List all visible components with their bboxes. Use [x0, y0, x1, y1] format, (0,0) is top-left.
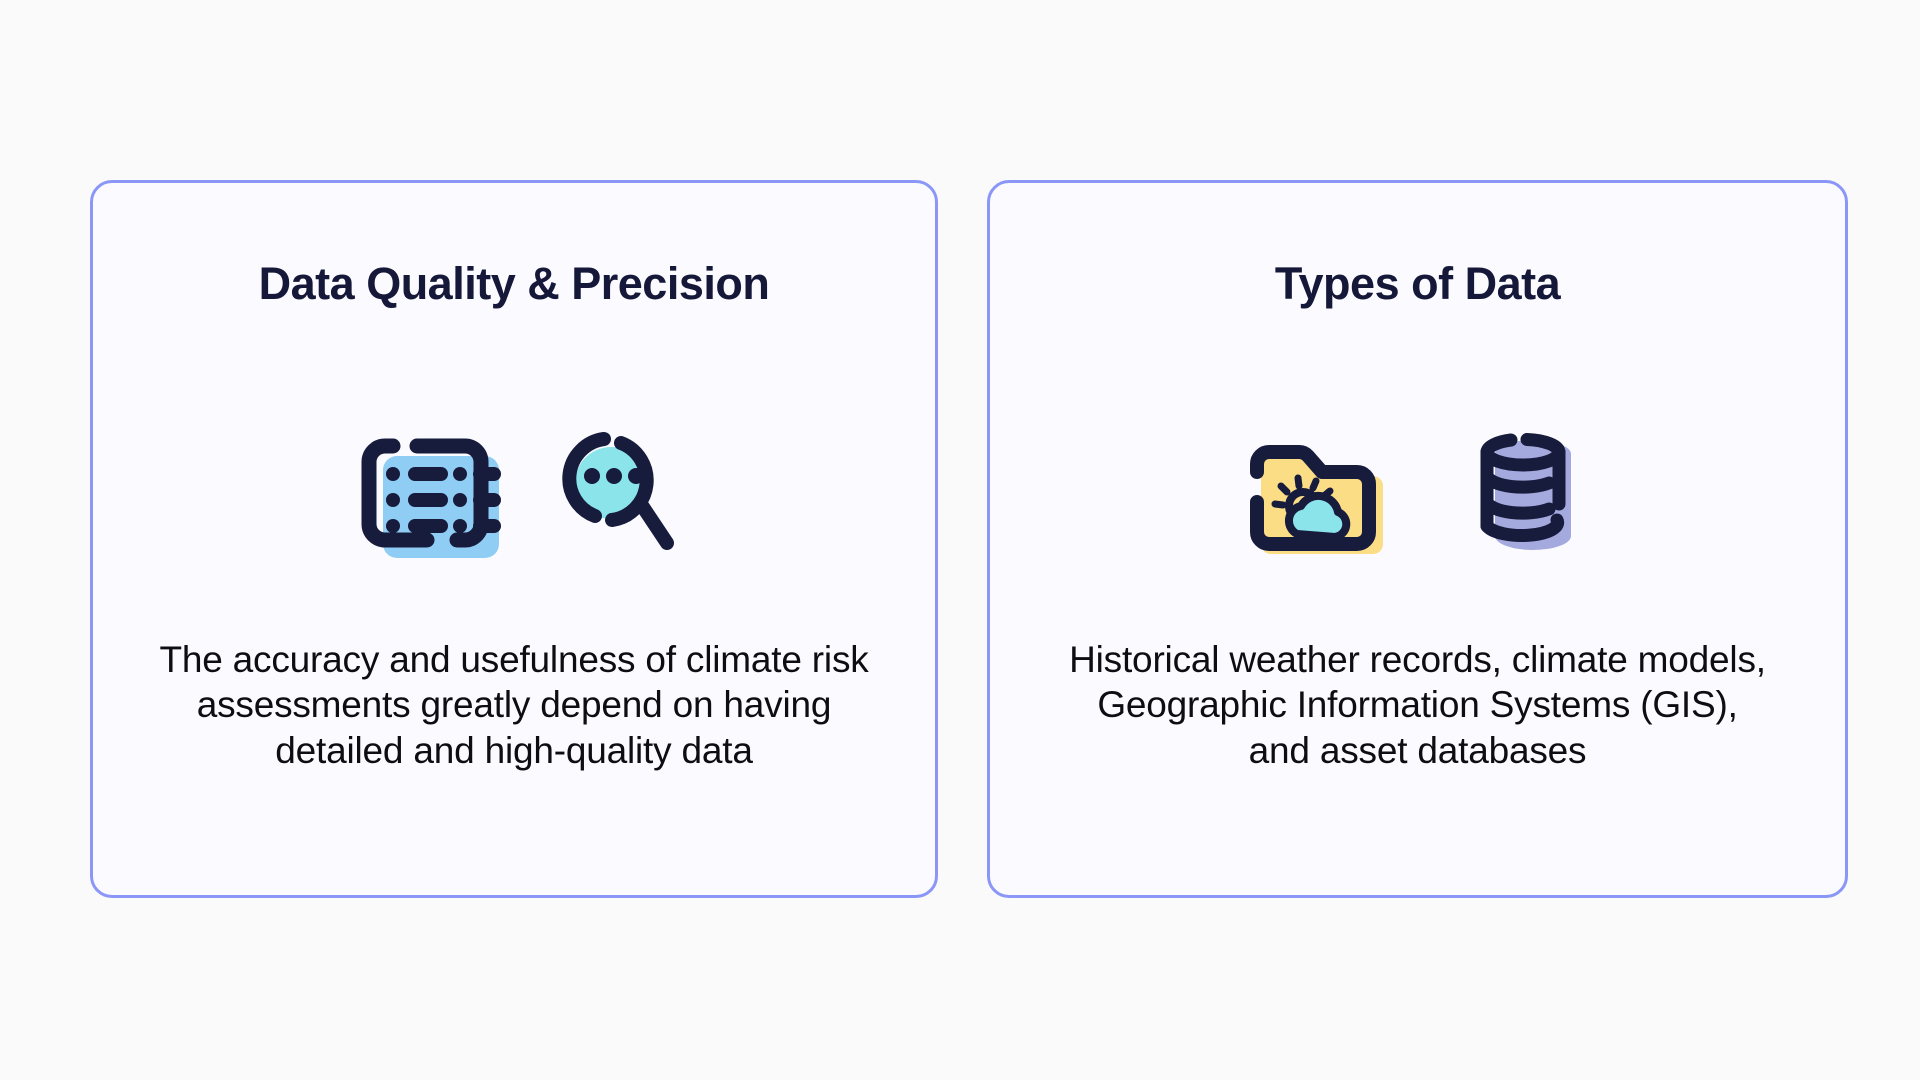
weather-folder-icon — [1237, 416, 1397, 576]
data-list-icon — [347, 416, 517, 576]
database-icon — [1459, 416, 1599, 576]
card-data-quality-precision: Data Quality & Precision — [90, 180, 938, 898]
card-description: Historical weather records, climate mode… — [1068, 637, 1768, 772]
card-types-of-data: Types of Data — [987, 180, 1848, 898]
magnifier-search-icon — [551, 421, 681, 571]
page-title: Types of Data — [1275, 261, 1560, 306]
page-title: Data Quality & Precision — [259, 261, 770, 306]
cards-board: Data Quality & Precision — [0, 0, 1920, 1080]
card-description: The accuracy and usefulness of climate r… — [144, 637, 884, 772]
icon-row — [347, 401, 681, 591]
icon-row — [1237, 401, 1599, 591]
